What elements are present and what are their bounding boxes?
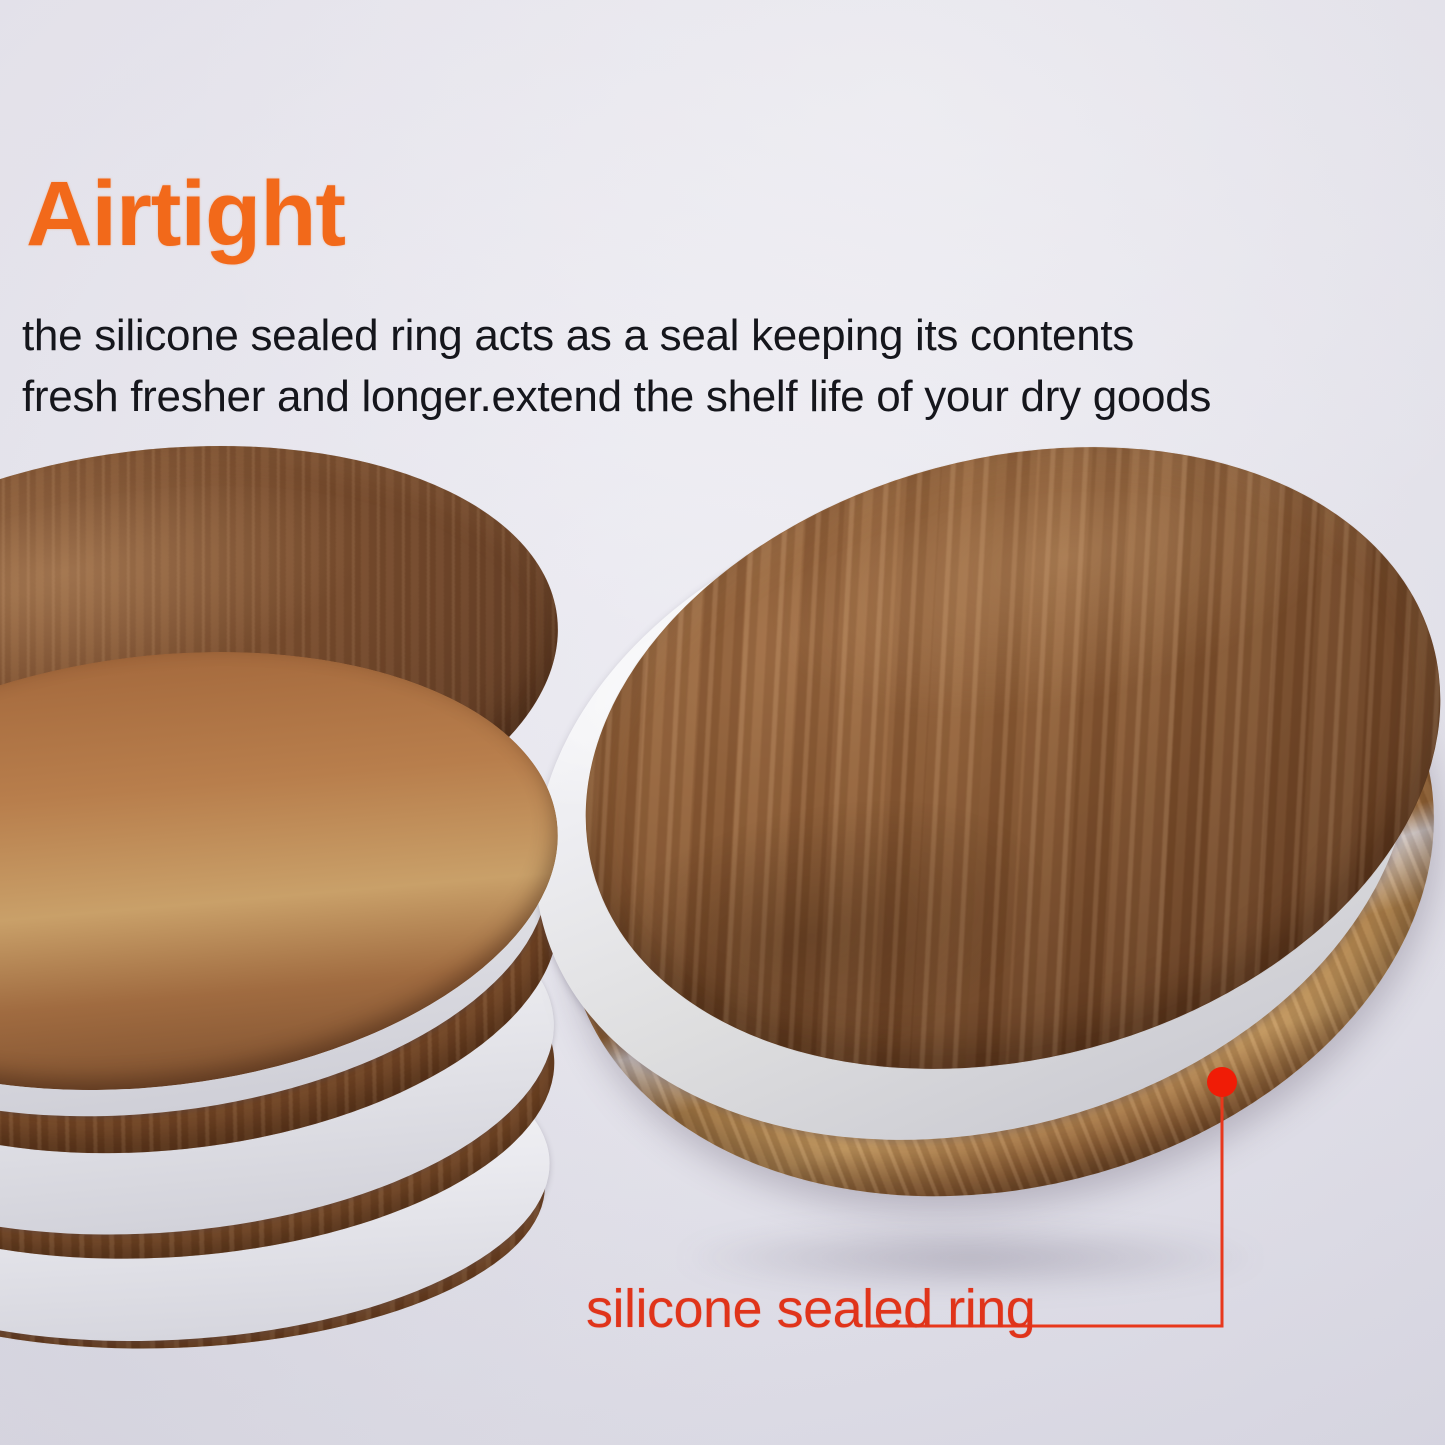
body-copy-line-2: fresh fresher and longer.extend the shel… [22,367,1352,428]
callout-label: silicone sealed ring [586,1282,1035,1336]
body-copy: the silicone sealed ring acts as a seal … [22,306,1352,427]
product-photo [0,420,1445,1320]
infographic-canvas: Airtight the silicone sealed ring acts a… [0,0,1445,1445]
body-copy-line-1: the silicone sealed ring acts as a seal … [22,306,1352,367]
headline: Airtight [26,168,345,260]
front-lid-group [470,430,1430,1250]
